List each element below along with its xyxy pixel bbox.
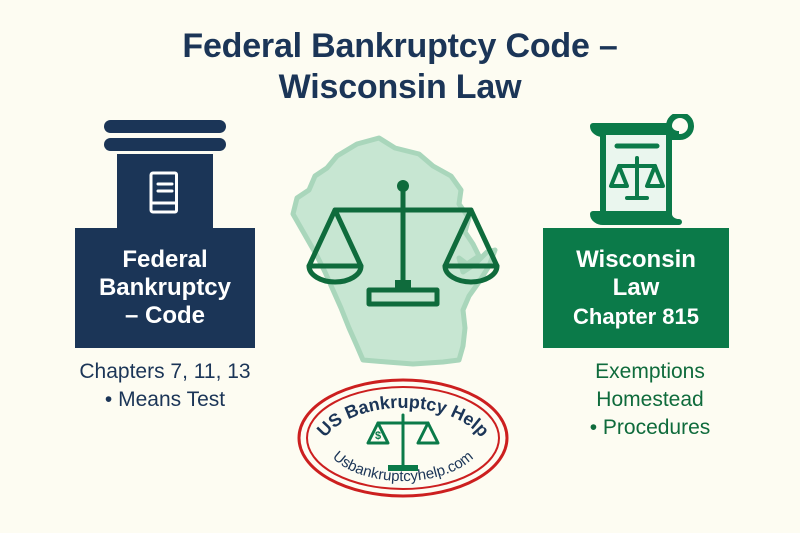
federal-box-line-1: Federal [122, 246, 207, 274]
federal-caption-line-1: Chapters 7, 11, 13 [55, 358, 275, 386]
pillar-shaft [117, 154, 213, 238]
book-icon [149, 170, 181, 218]
wisconsin-box-line-1: Wisconsin [576, 246, 696, 274]
federal-box-line-2: Bankruptcy [99, 274, 231, 302]
federal-box-line-3: – Code [125, 302, 205, 330]
legal-scroll-icon [581, 114, 695, 228]
pillar-capital-top [104, 120, 226, 133]
page-title: Federal Bankruptcy Code – Wisconsin Law [0, 26, 800, 109]
wisconsin-caption: Exemptions Homestead • Procedures [540, 358, 760, 442]
wisconsin-map-icon [283, 132, 523, 384]
wisconsin-map-graphic [283, 132, 523, 384]
infographic-canvas: Federal Bankruptcy Code – Wisconsin Law … [0, 0, 800, 533]
pillar-icon [104, 120, 226, 238]
scroll-with-scales-icon [581, 114, 695, 228]
federal-bankruptcy-code-box: Federal Bankruptcy – Code [75, 228, 255, 348]
wisconsin-caption-line-1: Exemptions [540, 358, 760, 386]
page-title-line-2: Wisconsin Law [0, 67, 800, 108]
wisconsin-caption-line-3: • Procedures [540, 414, 760, 442]
pillar-capital-bottom [104, 138, 226, 151]
logo-badge-graphic[interactable]: US Bankruptcy Help Usbankruptcyhelp.com … [296, 377, 510, 499]
page-title-line-1: Federal Bankruptcy Code – [0, 26, 800, 67]
site-logo-badge[interactable]: US Bankruptcy Help Usbankruptcyhelp.com … [296, 377, 510, 499]
federal-caption: Chapters 7, 11, 13 • Means Test [55, 358, 275, 414]
wisconsin-box-line-2: Law [613, 274, 660, 302]
logo-dollar-symbol: $ [375, 430, 381, 442]
wisconsin-caption-line-2: Homestead [540, 386, 760, 414]
wisconsin-law-box: Wisconsin Law Chapter 815 [543, 228, 729, 348]
wisconsin-box-chapter: Chapter 815 [573, 304, 699, 330]
federal-caption-line-2: • Means Test [55, 386, 275, 414]
